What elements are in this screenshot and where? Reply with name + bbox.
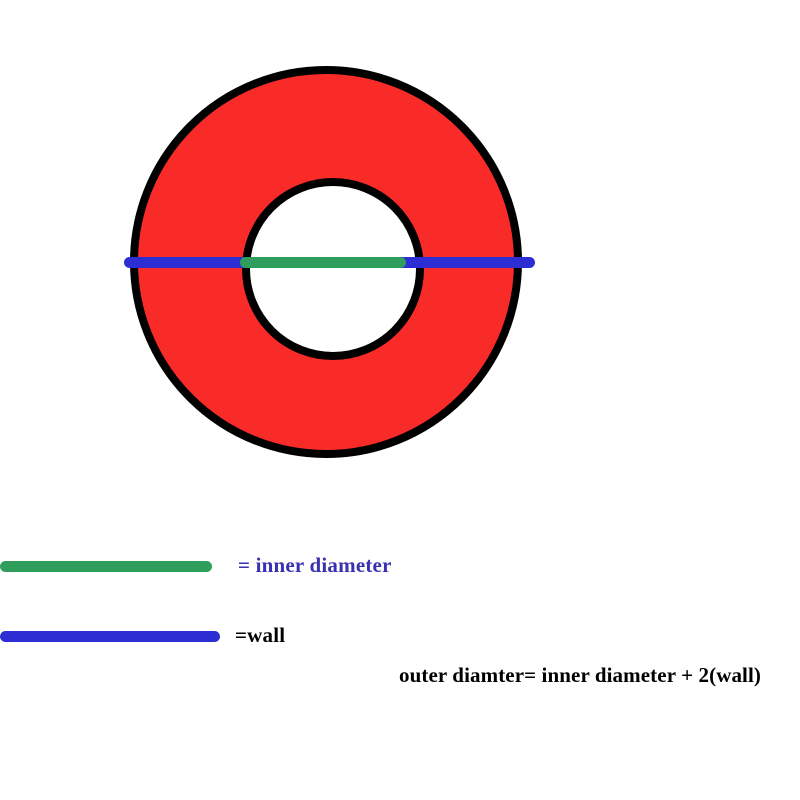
outer-diameter-formula: outer diamter= inner diameter + 2(wall) xyxy=(399,663,761,688)
inner-bore-hole xyxy=(242,178,424,360)
legend-label-wall: =wall xyxy=(235,623,285,648)
inner-diameter-measure-line xyxy=(240,257,406,268)
diagram-canvas: = inner diameter =wall outer diamter= in… xyxy=(0,0,800,800)
legend-swatch-inner-diameter xyxy=(0,561,212,572)
legend-label-inner-diameter: = inner diameter xyxy=(238,553,392,578)
legend-swatch-wall xyxy=(0,631,220,642)
